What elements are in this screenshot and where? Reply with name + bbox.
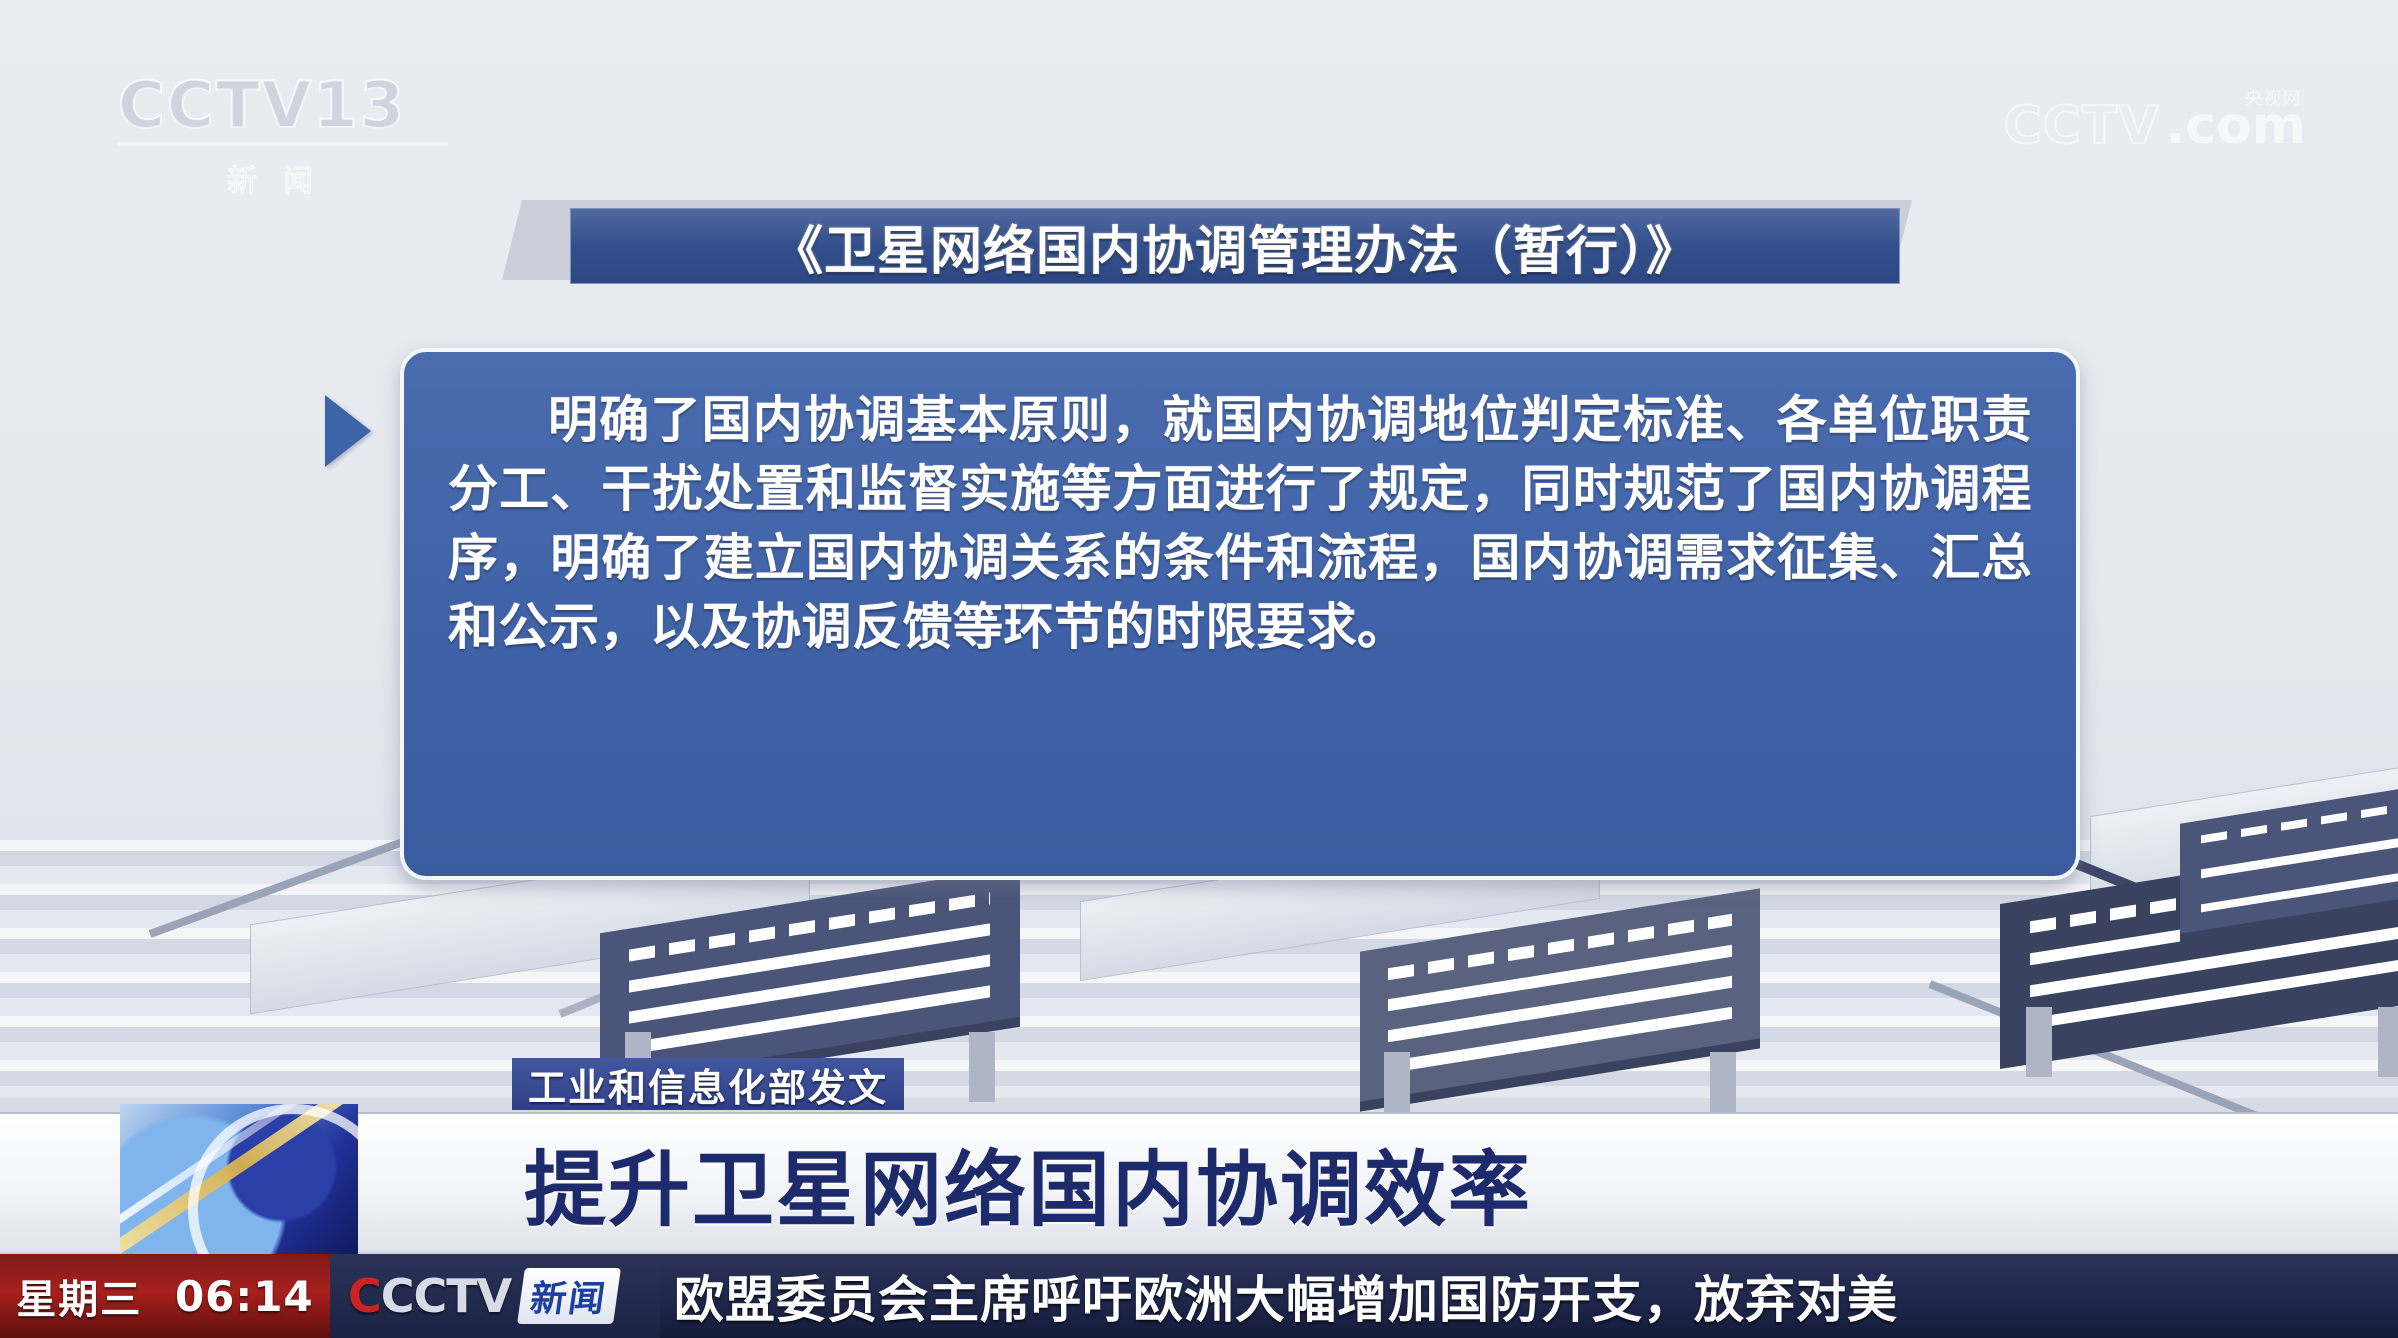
graphic-title-text: 《卫星网络国内协调管理办法（暂行）》 [771,209,1699,284]
news-ticker: 星期三 06:14 CCCTV 新闻 欧盟委员会主席呼吁欧洲大幅增加国防开支，放… [0,1254,2398,1338]
watermark-cctv-text: CCTV [118,69,313,143]
lower-third-kicker: 工业和信息化部发文 [512,1058,904,1110]
graphic-title-plate: 《卫星网络国内协调管理办法（暂行）》 [570,208,1900,284]
cctv-news-logo-ball-icon [120,1104,358,1254]
graphic-body-text: 明确了国内协调基本原则，就国内协调地位判定标准、各单位职责分工、干扰处置和监督实… [448,386,2032,662]
triangle-right-icon [325,395,371,467]
ticker-time: 06:14 [175,1272,314,1321]
lower-third-kicker-text: 工业和信息化部发文 [528,1057,888,1112]
cctvcom-watermark: 央视网 CCTV.com [2003,96,2306,156]
ticker-datetime: 星期三 06:14 [0,1254,330,1338]
watermark-channel-number: 13 [313,69,406,143]
graphic-body-card: 明确了国内协调基本原则，就国内协调地位判定标准、各单位职责分工、干扰处置和监督实… [400,348,2080,880]
background-desk-far-right [2180,800,2398,910]
ticker-news-badge: 新闻 [517,1268,621,1324]
ticker-headline: 欧盟委员会主席呼吁欧洲大幅增加国防开支，放弃对美 [660,1254,2398,1338]
ticker-headline-text: 欧盟委员会主席呼吁欧洲大幅增加国防开支，放弃对美 [674,1260,1898,1332]
ticker-cctv-logo-icon: CCCTV [348,1269,511,1323]
ticker-weekday: 星期三 [16,1267,142,1325]
watermark-cctv-brand: CCTV [2003,96,2159,156]
ticker-cctv-text: CCTV [381,1269,512,1323]
ticker-channel-logo: CCCTV 新闻 [330,1254,660,1338]
lower-third-headline-text: 提升卫星网络国内协调效率 [524,1123,1532,1242]
background-desk-center [1360,920,1760,1070]
background-desk-left [600,900,1020,1050]
watermark-news-label: 新闻 [118,156,448,200]
cctv13-watermark: CCTV13 新闻 [118,74,448,200]
lower-third-headline: 提升卫星网络国内协调效率 [524,1126,1532,1238]
broadcast-screenshot: CCTV13 新闻 央视网 CCTV.com 《卫星网络国内协调管理办法（暂行）… [0,0,2398,1338]
watermark-yangshiwang-label: 央视网 [2245,84,2302,109]
